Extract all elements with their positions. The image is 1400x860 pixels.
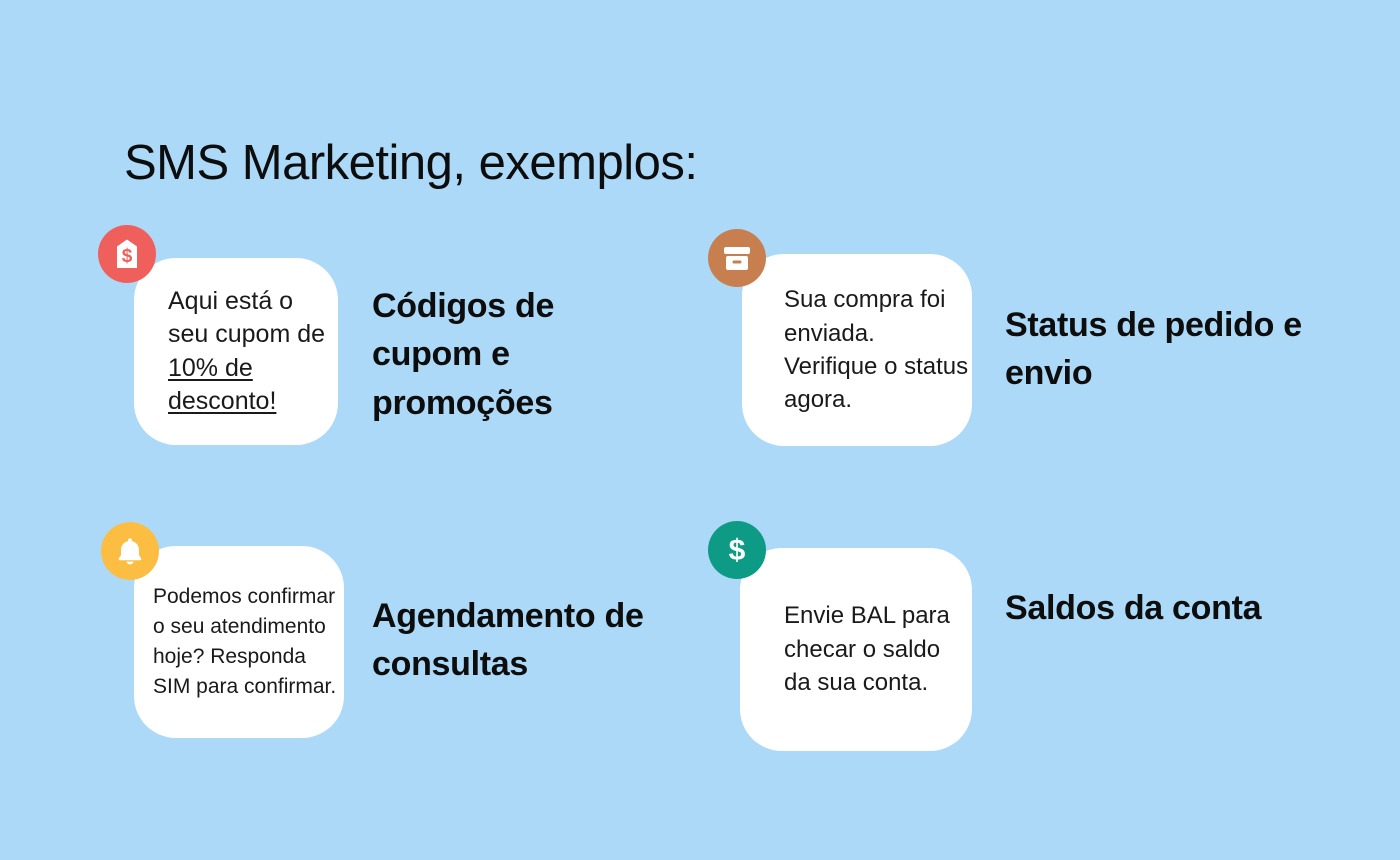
item-heading: Códigos de cupom e promoções (372, 282, 622, 427)
message-text-underlined: 10% de desconto! (168, 354, 276, 416)
message-bubble: Envie BAL para checar o saldo da sua con… (740, 548, 972, 751)
message-text: Sua compra foi enviada. Verifique o stat… (742, 283, 972, 416)
message-bubble: Podemos confirmar o seu atendimento hoje… (134, 546, 344, 738)
message-bubble: Sua compra foi enviada. Verifique o stat… (742, 254, 972, 446)
item-heading: Status de pedido e envio (1005, 301, 1305, 398)
bell-notification-icon (101, 522, 159, 580)
message-bubble: Aqui está o seu cupom de 10% de desconto… (134, 258, 338, 445)
infographic-canvas: SMS Marketing, exemplos: $ Aqui está o s… (0, 0, 1400, 860)
page-title: SMS Marketing, exemplos: (124, 137, 698, 191)
package-box-icon (708, 229, 766, 287)
message-text-plain: Podemos confirmar o seu atendimento hoje… (153, 585, 336, 698)
message-text: Aqui está o seu cupom de 10% de desconto… (134, 285, 338, 419)
item-heading: Saldos da conta (1005, 584, 1265, 632)
message-text: Envie BAL para checar o saldo da sua con… (740, 599, 972, 700)
message-text-plain: Sua compra foi enviada. Verifique o stat… (784, 286, 968, 413)
message-text-plain: Aqui está o seu cupom de (168, 287, 325, 349)
price-tag-dollar-icon: $ (98, 225, 156, 283)
svg-text:$: $ (122, 246, 133, 267)
dollar-sign-icon: $ (708, 521, 766, 579)
message-text-plain: Envie BAL para checar o saldo da sua con… (784, 602, 950, 697)
message-text: Podemos confirmar o seu atendimento hoje… (134, 582, 344, 702)
item-heading: Agendamento de consultas (372, 592, 652, 689)
svg-text:$: $ (729, 534, 746, 567)
